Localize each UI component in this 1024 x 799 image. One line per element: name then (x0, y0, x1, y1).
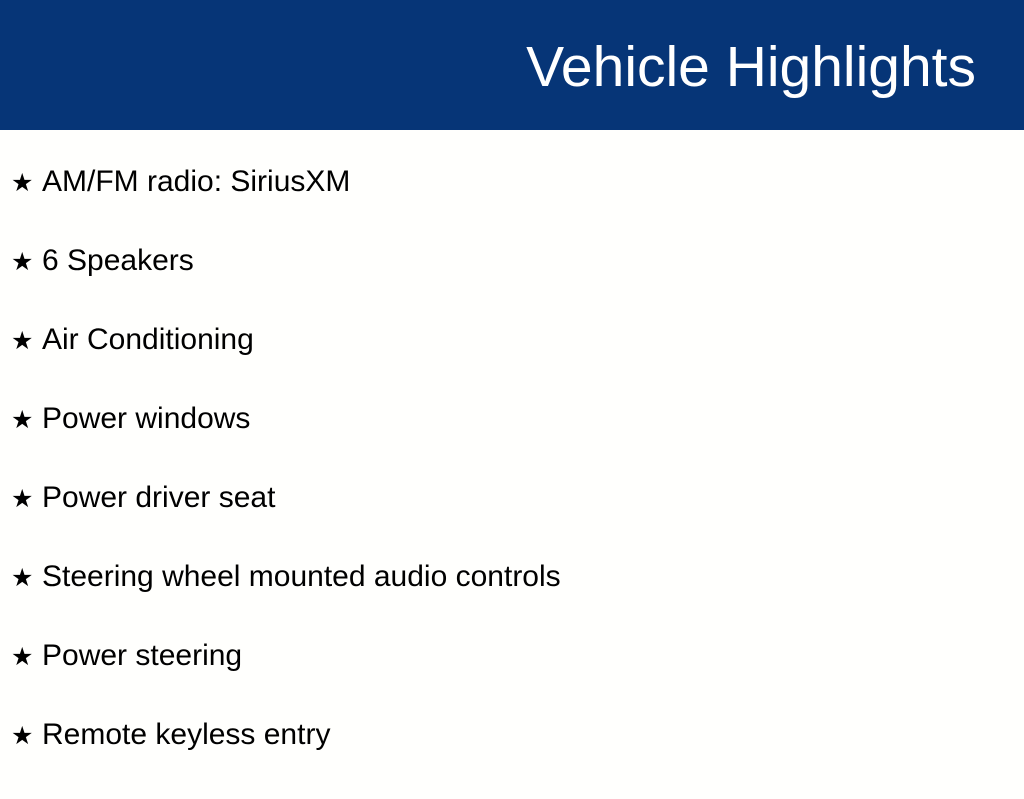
list-item: ★ Power windows (0, 404, 1024, 483)
star-bullet-icon: ★ (11, 565, 42, 590)
slide-title-bar: Vehicle Highlights (0, 0, 1024, 130)
list-item-label: 6 Speakers (42, 246, 194, 276)
list-item-label: Power steering (42, 641, 242, 671)
list-item-label: Power windows (42, 404, 250, 434)
star-bullet-icon: ★ (11, 644, 42, 669)
star-bullet-icon: ★ (11, 407, 42, 432)
star-bullet-icon: ★ (11, 170, 42, 195)
list-item-label: Power driver seat (42, 483, 275, 513)
list-item-label: AM/FM radio: SiriusXM (42, 167, 350, 197)
list-item-label: Remote keyless entry (42, 720, 330, 750)
list-item: ★ Power driver seat (0, 483, 1024, 562)
star-bullet-icon: ★ (11, 486, 42, 511)
list-item: ★ 6 Speakers (0, 246, 1024, 325)
list-item: ★ Steering wheel mounted audio controls (0, 562, 1024, 641)
list-item: ★ Remote keyless entry (0, 720, 1024, 799)
list-item: ★ AM/FM radio: SiriusXM (0, 167, 1024, 246)
star-bullet-icon: ★ (11, 328, 42, 353)
star-bullet-icon: ★ (11, 249, 42, 274)
list-item: ★ Power steering (0, 641, 1024, 720)
vehicle-highlights-list: ★ AM/FM radio: SiriusXM ★ 6 Speakers ★ A… (0, 130, 1024, 799)
list-item-label: Steering wheel mounted audio controls (42, 562, 561, 592)
star-bullet-icon: ★ (11, 723, 42, 748)
list-item-label: Air Conditioning (42, 325, 254, 355)
page-title: Vehicle Highlights (526, 39, 976, 96)
list-item: ★ Air Conditioning (0, 325, 1024, 404)
slide-canvas: Vehicle Highlights ★ AM/FM radio: Sirius… (0, 0, 1024, 768)
